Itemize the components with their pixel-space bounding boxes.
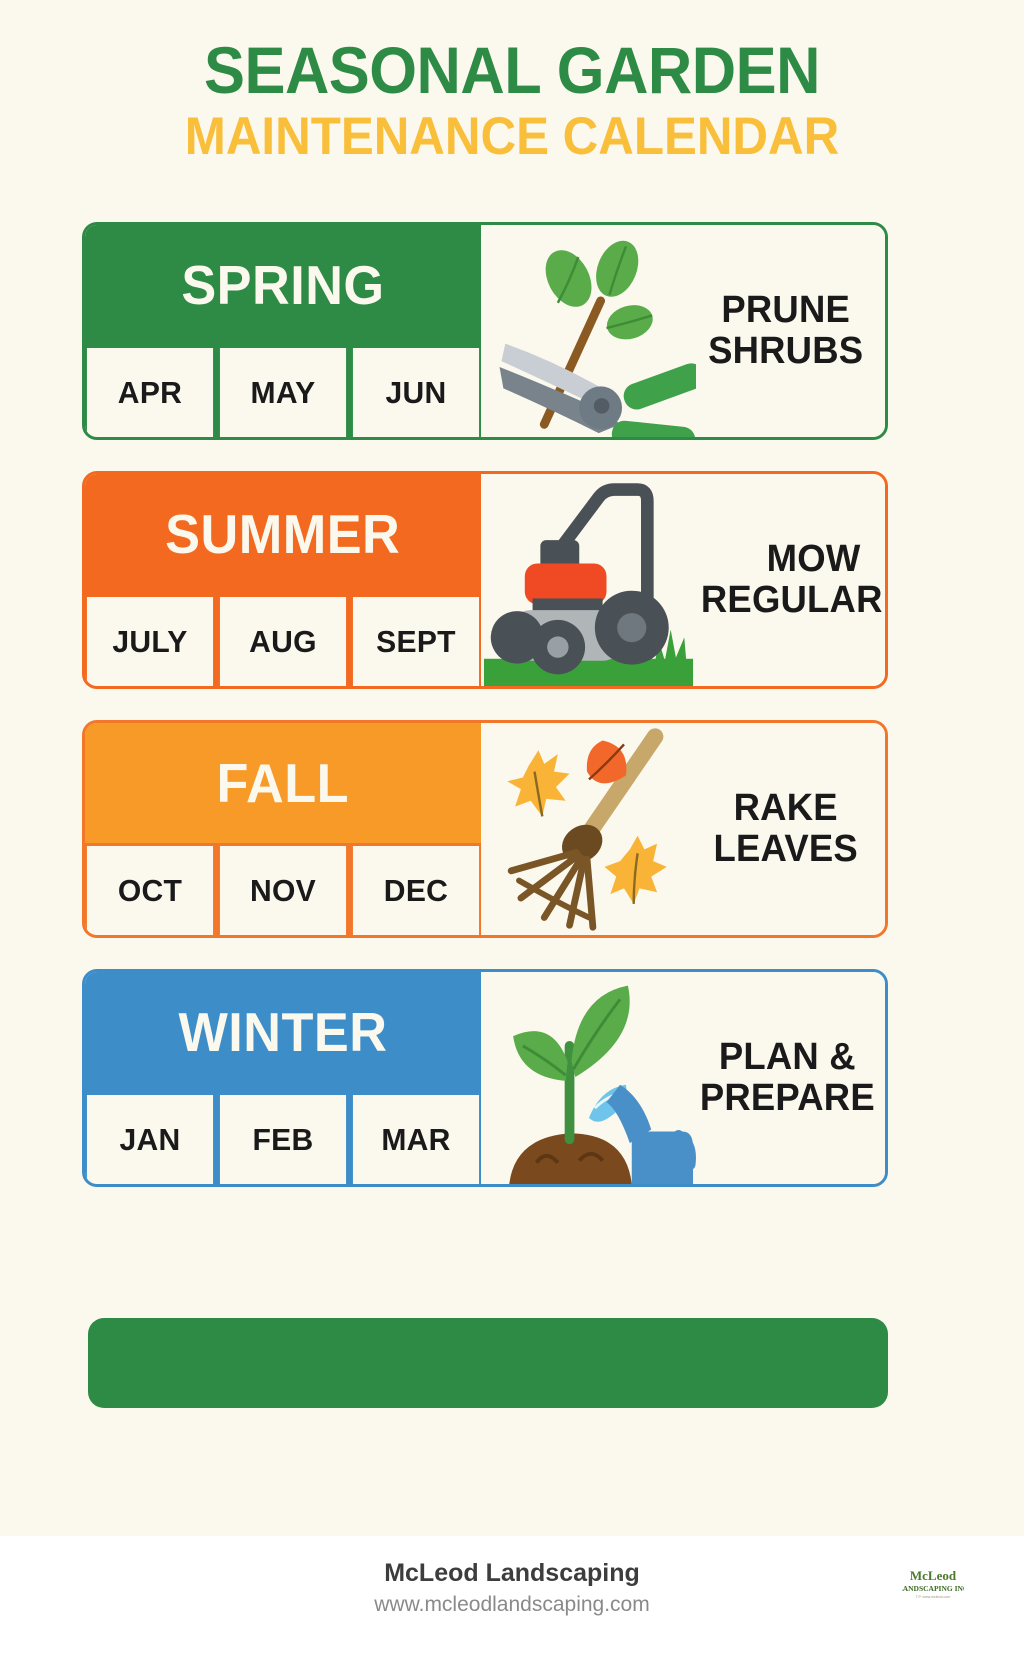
rake-leaves-icon — [481, 723, 696, 935]
season-header-summer: SUMMER — [85, 474, 481, 594]
month-cell[interactable]: JUN — [353, 348, 479, 437]
task-line-1: PRUNE — [700, 290, 872, 331]
month-row: APR MAY JUN — [85, 345, 481, 437]
season-header-winter: WINTER — [85, 972, 481, 1092]
task-line-1: PLAN & — [700, 1037, 875, 1078]
footer-text-block: McLeod Landscaping www.mcleodlandscaping… — [374, 1558, 649, 1621]
month-cell[interactable]: SEPT — [353, 597, 479, 686]
poster-canvas: SEASONAL GARDEN MAINTENANCE CALENDAR SPR… — [0, 0, 1024, 1536]
season-task: PRUNE SHRUBS — [700, 290, 881, 371]
month-cell[interactable]: OCT — [87, 846, 213, 935]
month-cell[interactable]: JAN — [87, 1095, 213, 1184]
title-line-secondary: MAINTENANCE CALENDAR — [36, 105, 988, 170]
season-name: SPRING — [181, 258, 384, 313]
month-row: JAN FEB MAR — [85, 1092, 481, 1184]
month-cell[interactable]: JULY — [87, 597, 213, 686]
season-card-spring[interactable]: SPRING APR MAY JUN — [82, 222, 888, 440]
green-banner-bar — [88, 1318, 888, 1408]
month-cell[interactable]: AUG — [220, 597, 346, 686]
task-line-2: LEAVES — [700, 829, 872, 870]
lawn-mower-icon — [481, 474, 696, 686]
title-line-primary: SEASONAL GARDEN — [36, 36, 988, 105]
svg-text:LANDSCAPING INC: LANDSCAPING INC — [902, 1584, 964, 1593]
season-name: SUMMER — [165, 507, 400, 562]
month-cell[interactable]: APR — [87, 348, 213, 437]
company-website[interactable]: www.mcleodlandscaping.com — [374, 1589, 649, 1621]
poster-title: SEASONAL GARDEN MAINTENANCE CALENDAR — [0, 0, 1024, 169]
company-name: McLeod Landscaping — [374, 1558, 649, 1589]
season-right-panel: MOW REGULARLY — [481, 474, 888, 686]
season-right-panel: PRUNE SHRUBS — [481, 225, 885, 437]
season-card-winter[interactable]: WINTER JAN FEB MAR — [82, 969, 888, 1187]
company-logo: McLeod LANDSCAPING INC T.P. www.mcleod.c… — [902, 1564, 964, 1604]
season-header-fall: FALL — [85, 723, 481, 843]
task-line-2: PREPARE — [700, 1078, 875, 1119]
season-right-panel: PLAN & PREPARE — [481, 972, 888, 1184]
seedling-watering-can-icon — [481, 972, 696, 1184]
season-card-list: SPRING APR MAY JUN — [82, 222, 888, 1218]
task-line-2: REGULARLY — [701, 580, 888, 621]
season-card-summer[interactable]: SUMMER JULY AUG SEPT — [82, 471, 888, 689]
task-line-2: SHRUBS — [700, 331, 872, 372]
season-right-panel: RAKE LEAVES — [481, 723, 885, 935]
month-cell[interactable]: NOV — [220, 846, 346, 935]
task-line-1: RAKE — [700, 788, 872, 829]
season-task: PLAN & PREPARE — [700, 1037, 885, 1118]
pruning-shears-icon — [481, 225, 696, 437]
page-footer: McLeod Landscaping www.mcleodlandscaping… — [0, 1536, 1024, 1666]
season-name: FALL — [217, 756, 350, 811]
season-left-panel: FALL OCT NOV DEC — [85, 723, 481, 935]
season-left-panel: SPRING APR MAY JUN — [85, 225, 481, 437]
season-name: WINTER — [179, 1005, 388, 1060]
month-cell[interactable]: DEC — [353, 846, 479, 935]
svg-text:T.P. www.mcleod.com: T.P. www.mcleod.com — [916, 1595, 951, 1599]
month-row: OCT NOV DEC — [85, 843, 481, 935]
season-card-fall[interactable]: FALL OCT NOV DEC — [82, 720, 888, 938]
month-cell[interactable]: MAY — [220, 348, 346, 437]
season-left-panel: WINTER JAN FEB MAR — [85, 972, 481, 1184]
season-task: MOW REGULARLY — [701, 539, 888, 620]
month-row: JULY AUG SEPT — [85, 594, 481, 686]
month-cell[interactable]: FEB — [220, 1095, 346, 1184]
task-line-1: MOW — [701, 539, 888, 580]
season-task: RAKE LEAVES — [700, 788, 881, 869]
svg-text:McLeod: McLeod — [910, 1568, 957, 1583]
season-header-spring: SPRING — [85, 225, 481, 345]
month-cell[interactable]: MAR — [353, 1095, 479, 1184]
season-left-panel: SUMMER JULY AUG SEPT — [85, 474, 481, 686]
